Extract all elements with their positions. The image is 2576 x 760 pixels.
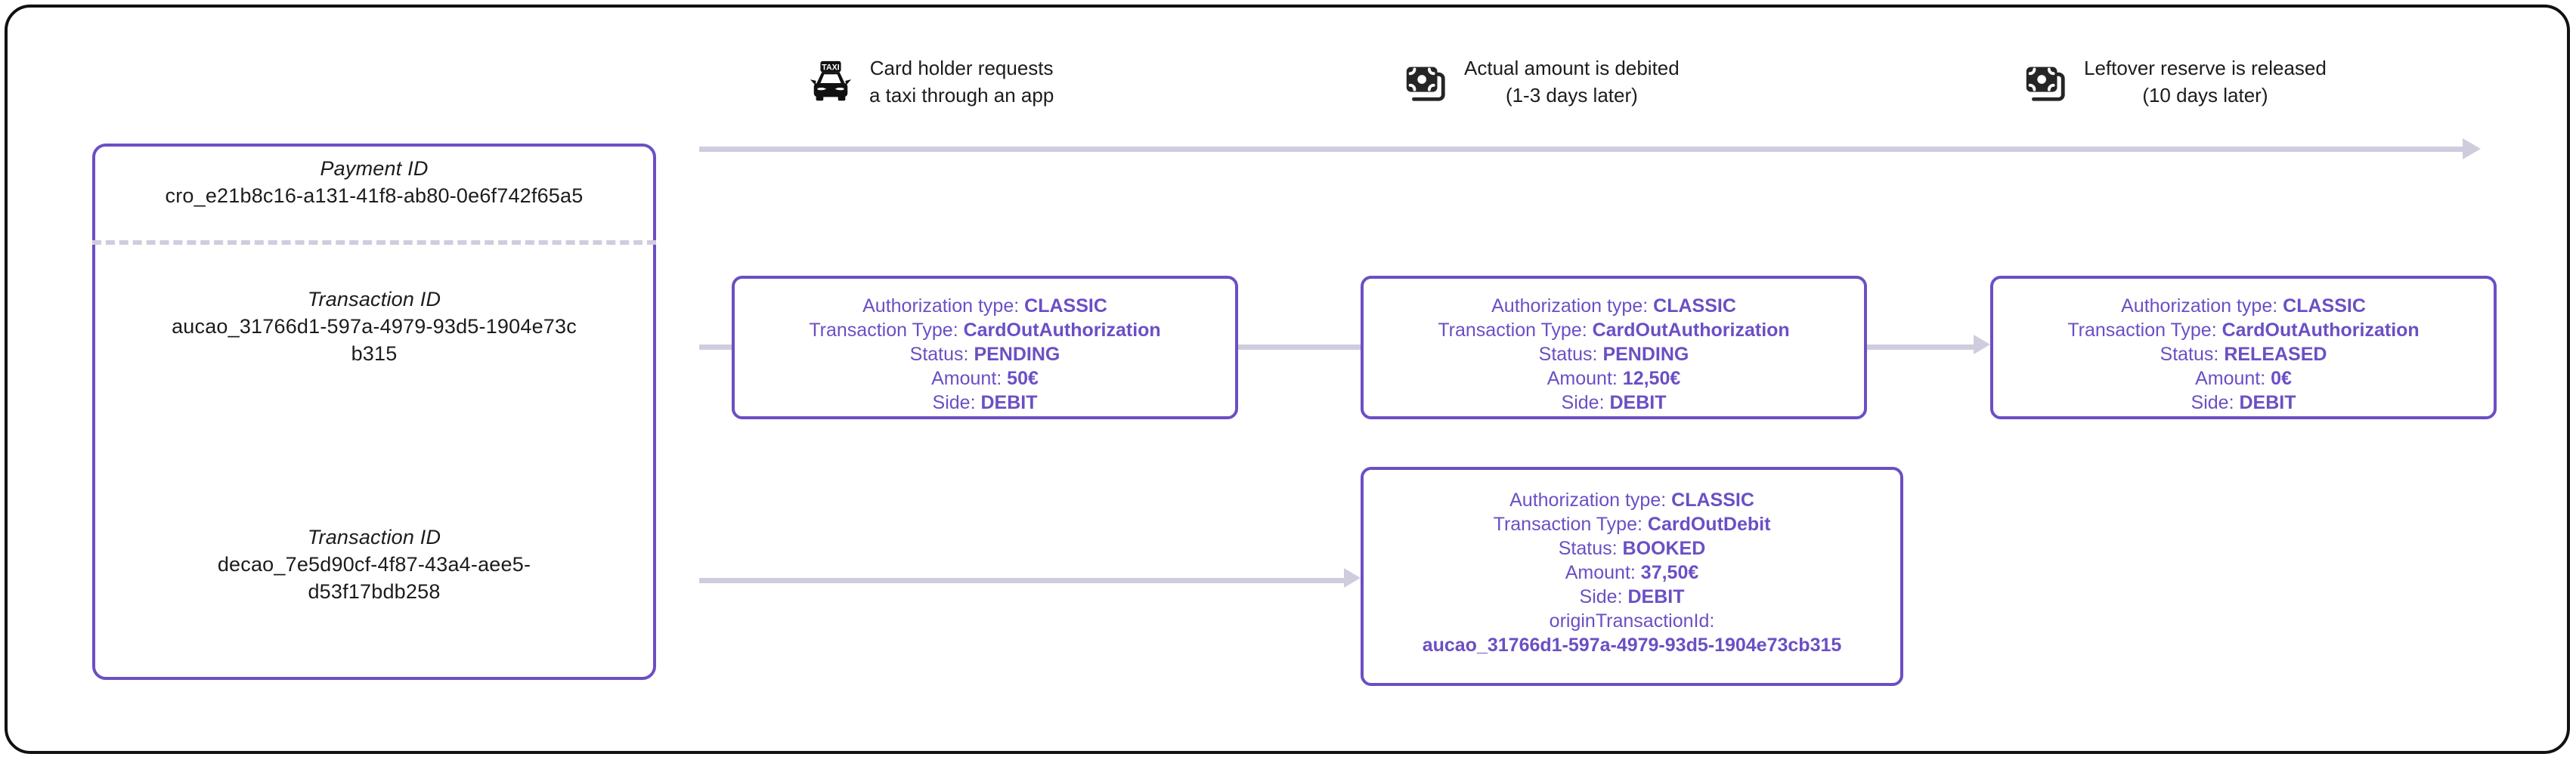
payment-id-label: Payment ID	[92, 155, 656, 182]
banknotes-icon	[1402, 58, 1449, 105]
card-1-transaction-type-label: Transaction Type:	[809, 320, 958, 341]
card-4-transaction-type-label: Transaction Type:	[1494, 514, 1643, 535]
card-3-transaction-type-row: Transaction Type: CardOutAuthorization	[1993, 318, 2494, 342]
card-3-status-value: RELEASED	[2224, 344, 2327, 365]
card-2-status-value: PENDING	[1602, 344, 1689, 365]
card-1-status-label: Status:	[910, 344, 969, 365]
timeline-milestone-1-caption-line-1: Card holder requests	[870, 57, 1054, 79]
card-3-transaction-type-value: CardOutAuthorization	[2222, 320, 2420, 341]
card-3-amount-row: Amount: 0€	[1993, 366, 2494, 391]
transaction-card-authorization-released-0[interactable]: Authorization type: CLASSIC Transaction …	[1990, 276, 2497, 419]
card-3-amount-value: 0€	[2271, 368, 2292, 389]
card-2-amount-row: Amount: 12,50€	[1364, 366, 1864, 391]
card-4-authorization-type-row: Authorization type: CLASSIC	[1364, 488, 1900, 512]
timeline-milestone-3: Leftover reserve is released (10 days la…	[2022, 54, 2327, 109]
card-2-side-value: DEBIT	[1609, 392, 1666, 413]
card-1-side-label: Side:	[933, 392, 976, 413]
card-3-status-row: Status: RELEASED	[1993, 342, 2494, 366]
card-3-side-value: DEBIT	[2239, 392, 2296, 413]
card-1-status-value: PENDING	[974, 344, 1060, 365]
timeline-milestone-1-caption: Card holder requests a taxi through an a…	[869, 54, 1054, 109]
card-1-amount-label: Amount:	[931, 368, 1002, 389]
connector-into-card-1	[699, 344, 733, 350]
card-3-transaction-type-label: Transaction Type:	[2067, 320, 2216, 341]
timeline-milestone-1: TAXI Card holder requests a taxi through…	[807, 54, 1054, 109]
card-4-amount-value: 37,50€	[1641, 562, 1698, 583]
timeline-milestone-3-caption-line-2: (10 days later)	[2142, 84, 2268, 107]
card-4-origin-transaction-value: aucao_31766d1-597a-4979-93d5-1904e73cb31…	[1364, 633, 1900, 657]
connector-card-2-to-card-3-arrowhead-icon	[1974, 335, 1990, 354]
card-1-status-row: Status: PENDING	[735, 342, 1235, 366]
card-3-amount-label: Amount:	[2195, 368, 2265, 389]
timeline-arrowhead-icon	[2463, 138, 2481, 159]
transaction-id-block-2: Transaction ID decao_7e5d90cf-4f87-43a4-…	[92, 524, 656, 605]
card-1-amount-row: Amount: 50€	[735, 366, 1235, 391]
card-2-authorization-type-value: CLASSIC	[1653, 295, 1736, 317]
card-2-transaction-type-row: Transaction Type: CardOutAuthorization	[1364, 318, 1864, 342]
taxi-icon: TAXI	[807, 58, 854, 105]
timeline-milestone-2-caption-line-2: (1-3 days later)	[1506, 84, 1638, 107]
card-2-transaction-type-label: Transaction Type:	[1438, 320, 1587, 341]
transaction-id-value-1-line-1: aucao_31766d1-597a-4979-93d5-1904e73c	[92, 313, 656, 340]
connector-into-card-4	[699, 578, 1345, 583]
card-4-authorization-type-value: CLASSIC	[1671, 490, 1754, 511]
transaction-id-label-1: Transaction ID	[92, 286, 656, 313]
transaction-id-value-2-line-1: decao_7e5d90cf-4f87-43a4-aee5-	[92, 551, 656, 578]
card-2-authorization-type-label: Authorization type:	[1491, 295, 1648, 317]
card-2-status-label: Status:	[1539, 344, 1598, 365]
card-3-authorization-type-label: Authorization type:	[2121, 295, 2277, 317]
card-4-origin-transaction-label: originTransactionId:	[1364, 609, 1900, 633]
card-4-transaction-type-value: CardOutDebit	[1648, 514, 1771, 535]
transaction-id-block-1: Transaction ID aucao_31766d1-597a-4979-9…	[92, 286, 656, 367]
card-4-side-label: Side:	[1580, 586, 1623, 607]
card-2-amount-value: 12,50€	[1623, 368, 1680, 389]
card-3-authorization-type-value: CLASSIC	[2283, 295, 2366, 317]
card-4-amount-label: Amount:	[1565, 562, 1636, 583]
card-1-side-row: Side: DEBIT	[735, 391, 1235, 415]
card-1-authorization-type-label: Authorization type:	[862, 295, 1019, 317]
connector-into-card-4-arrowhead-icon	[1344, 568, 1361, 588]
card-4-side-row: Side: DEBIT	[1364, 585, 1900, 609]
card-3-authorization-type-row: Authorization type: CLASSIC	[1993, 294, 2494, 318]
timeline-milestone-3-caption-line-1: Leftover reserve is released	[2084, 57, 2327, 79]
card-4-status-label: Status:	[1559, 538, 1618, 559]
card-1-transaction-type-row: Transaction Type: CardOutAuthorization	[735, 318, 1235, 342]
banknotes-icon	[2022, 58, 2069, 105]
card-4-status-value: BOOKED	[1623, 538, 1706, 559]
card-4-status-row: Status: BOOKED	[1364, 536, 1900, 561]
transaction-id-value-2-line-2: d53f17bdb258	[92, 578, 656, 605]
card-2-authorization-type-row: Authorization type: CLASSIC	[1364, 294, 1864, 318]
card-2-status-row: Status: PENDING	[1364, 342, 1864, 366]
timeline-milestone-2-caption: Actual amount is debited (1-3 days later…	[1464, 54, 1680, 109]
timeline-axis	[699, 147, 2464, 152]
card-1-transaction-type-value: CardOutAuthorization	[964, 320, 1161, 341]
payment-panel-divider	[92, 240, 656, 245]
card-4-transaction-type-row: Transaction Type: CardOutDebit	[1364, 512, 1900, 536]
timeline-milestone-2-caption-line-1: Actual amount is debited	[1464, 57, 1680, 79]
card-4-authorization-type-label: Authorization type:	[1509, 490, 1666, 511]
card-4-amount-row: Amount: 37,50€	[1364, 561, 1900, 585]
card-4-side-value: DEBIT	[1627, 586, 1684, 607]
card-1-authorization-type-row: Authorization type: CLASSIC	[735, 294, 1235, 318]
card-1-authorization-type-value: CLASSIC	[1024, 295, 1107, 317]
card-1-side-value: DEBIT	[980, 392, 1037, 413]
transaction-card-debit-booked-37-50[interactable]: Authorization type: CLASSIC Transaction …	[1361, 467, 1903, 686]
card-2-side-row: Side: DEBIT	[1364, 391, 1864, 415]
card-2-side-label: Side:	[1562, 392, 1605, 413]
connector-card-2-to-card-3	[1865, 344, 1975, 350]
payment-id-value: cro_e21b8c16-a131-41f8-ab80-0e6f742f65a5	[92, 182, 656, 209]
timeline-milestone-2: Actual amount is debited (1-3 days later…	[1402, 54, 1680, 109]
card-3-status-label: Status:	[2160, 344, 2219, 365]
card-2-amount-label: Amount:	[1547, 368, 1618, 389]
timeline-milestone-3-caption: Leftover reserve is released (10 days la…	[2084, 54, 2327, 109]
payment-id-block: Payment ID cro_e21b8c16-a131-41f8-ab80-0…	[92, 155, 656, 209]
transaction-card-authorization-pending-12-50[interactable]: Authorization type: CLASSIC Transaction …	[1361, 276, 1867, 419]
timeline-milestone-1-caption-line-2: a taxi through an app	[869, 84, 1054, 107]
transaction-id-value-1-line-2: b315	[92, 340, 656, 367]
card-2-transaction-type-value: CardOutAuthorization	[1593, 320, 1790, 341]
connector-card-1-to-card-2	[1237, 344, 1362, 350]
card-3-side-row: Side: DEBIT	[1993, 391, 2494, 415]
diagram-canvas: Payment ID cro_e21b8c16-a131-41f8-ab80-0…	[0, 0, 2576, 760]
transaction-card-authorization-pending-50[interactable]: Authorization type: CLASSIC Transaction …	[732, 276, 1238, 419]
transaction-id-label-2: Transaction ID	[92, 524, 656, 551]
card-3-side-label: Side:	[2191, 392, 2234, 413]
svg-text:TAXI: TAXI	[822, 63, 839, 73]
card-1-amount-value: 50€	[1007, 368, 1039, 389]
